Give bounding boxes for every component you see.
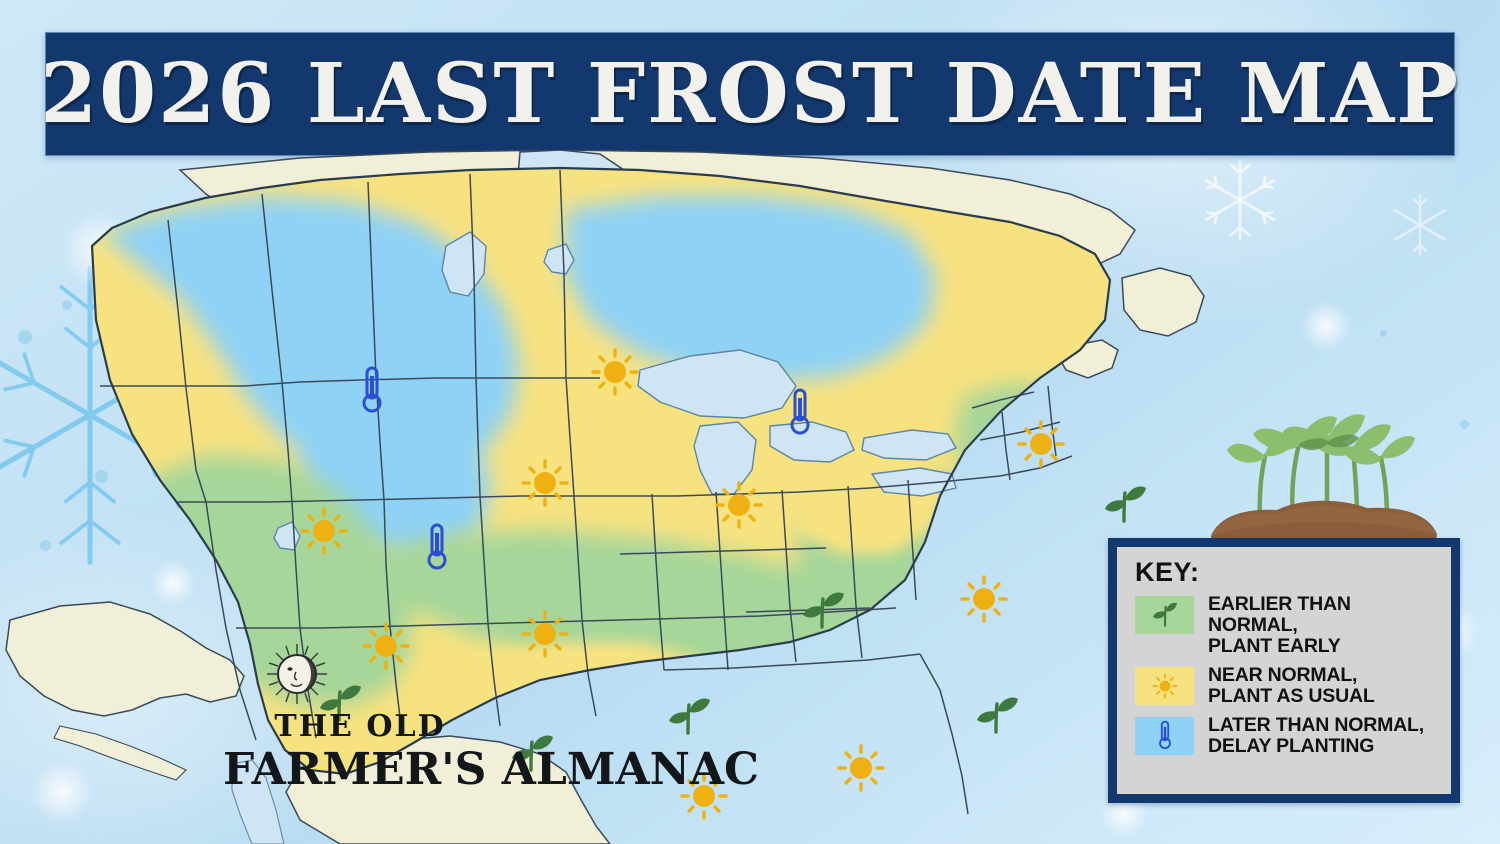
frost-date-map — [0, 150, 1230, 844]
key-label-earlier-line1: EARLIER THAN NORMAL, — [1208, 593, 1351, 636]
seedling-icon — [1152, 603, 1178, 627]
frost-map-poster: 2026 LAST FROST DATE MAP — [0, 0, 1500, 844]
key-row-near-normal: NEAR NORMAL, PLANT AS USUAL — [1135, 665, 1437, 707]
snow-dot — [1380, 330, 1387, 337]
key-label-near-normal-line1: NEAR NORMAL, — [1208, 664, 1357, 686]
logo-line-top: THE OLD — [225, 712, 495, 742]
key-label-later-line2: DELAY PLANTING — [1208, 735, 1374, 757]
poster-title-bar: 2026 LAST FROST DATE MAP — [45, 32, 1455, 156]
sun-face-emblem — [265, 642, 329, 706]
bokeh-dot — [1300, 300, 1352, 352]
thermometer-icon — [1155, 720, 1175, 752]
map-key-inner: KEY: EARLIER THAN NORMAL, PLANT EARLY — [1117, 547, 1451, 794]
swatch-earlier — [1135, 596, 1194, 634]
key-row-earlier: EARLIER THAN NORMAL, PLANT EARLY — [1135, 594, 1437, 657]
key-label-earlier: EARLIER THAN NORMAL, PLANT EARLY — [1208, 594, 1437, 657]
key-label-later-line1: LATER THAN NORMAL, — [1208, 714, 1424, 736]
logo-line-main: FARMER'S ALMANAC — [223, 748, 563, 792]
map-svg — [0, 150, 1230, 844]
key-label-near-normal: NEAR NORMAL, PLANT AS USUAL — [1208, 665, 1375, 707]
key-label-near-normal-line2: PLANT AS USUAL — [1208, 685, 1375, 707]
key-title: KEY: — [1135, 559, 1437, 586]
swatch-later — [1135, 717, 1194, 755]
sun-icon — [1151, 672, 1179, 700]
snow-dot — [1460, 420, 1469, 429]
key-label-earlier-line2: PLANT EARLY — [1208, 635, 1341, 657]
key-row-later: LATER THAN NORMAL, DELAY PLANTING — [1135, 715, 1437, 757]
key-label-later: LATER THAN NORMAL, DELAY PLANTING — [1208, 715, 1424, 757]
page-title: 2026 LAST FROST DATE MAP — [40, 53, 1460, 135]
seedling-planter-illustration — [1205, 398, 1445, 548]
almanac-logo: THE OLD FARMER'S ALMANAC — [225, 640, 565, 815]
swatch-near-normal — [1135, 667, 1194, 705]
map-key-box: KEY: EARLIER THAN NORMAL, PLANT EARLY — [1108, 538, 1460, 803]
snowflake-icon-small-2 — [1385, 190, 1455, 260]
